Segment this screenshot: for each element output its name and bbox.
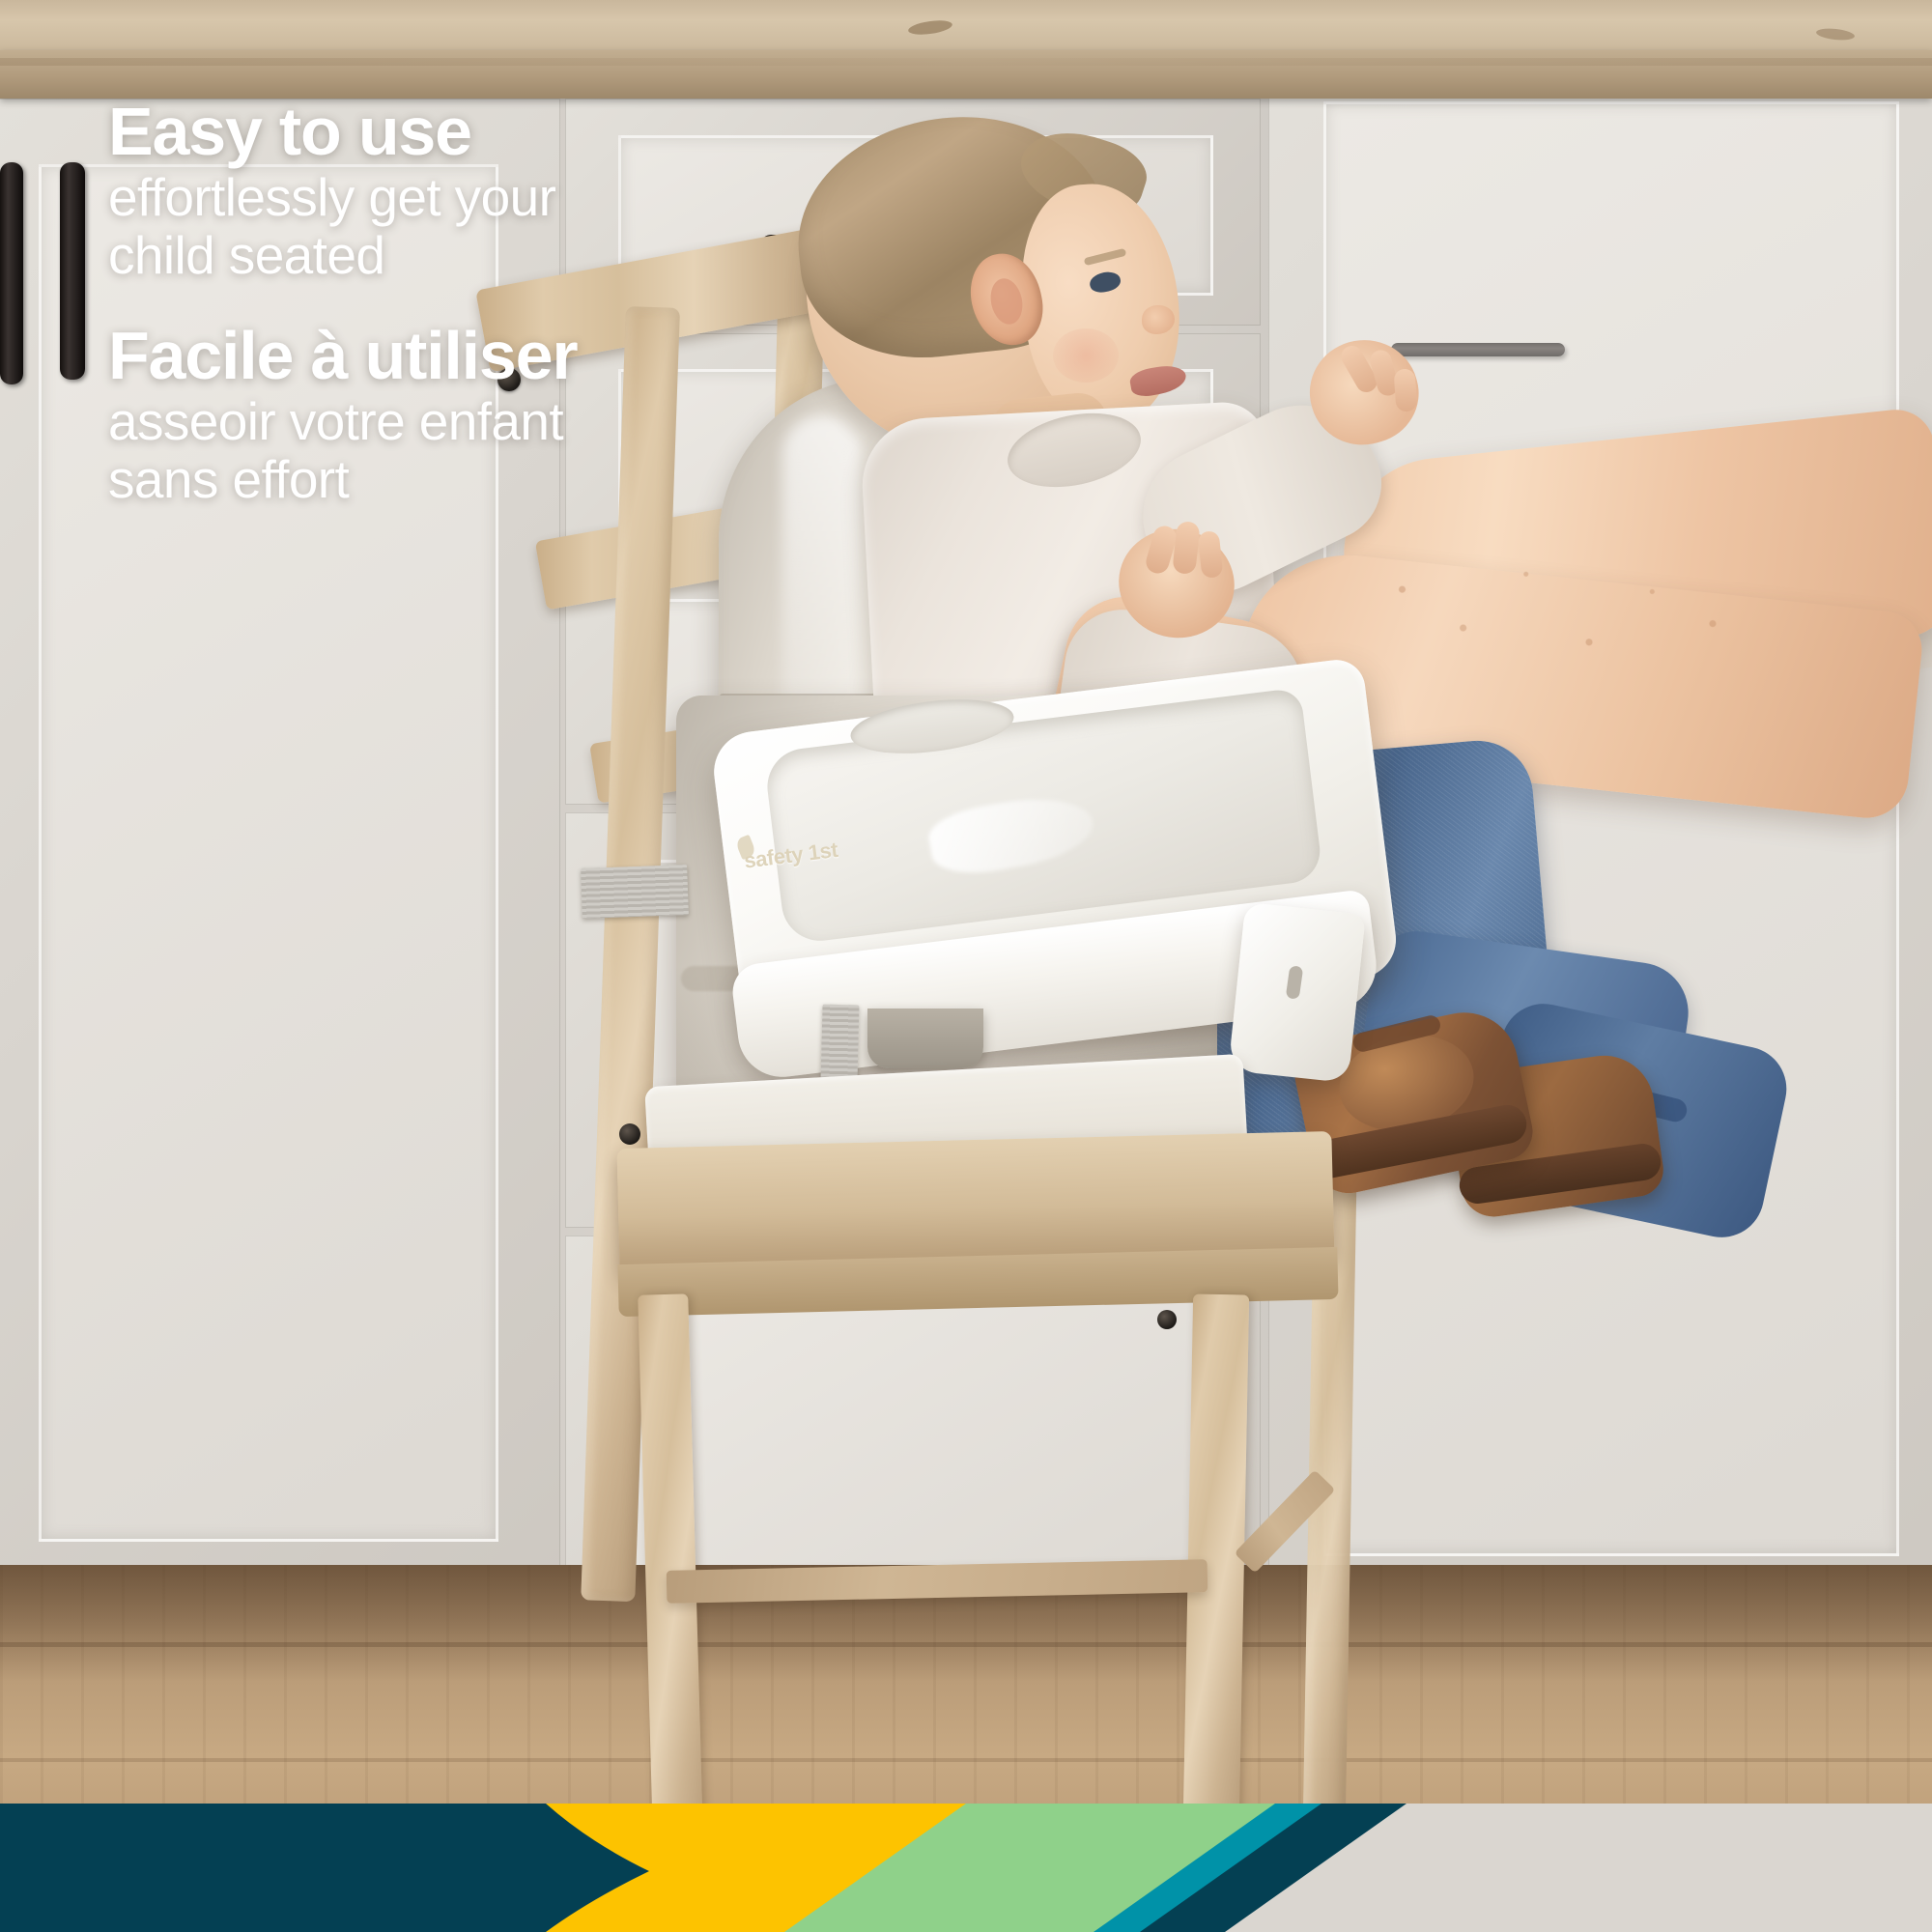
floor-seam — [0, 1758, 1932, 1762]
chevron-bar-graphic — [0, 1804, 1932, 1932]
headline-french: Facile à utiliser — [108, 323, 611, 389]
copy-english: Easy to use effortlessly get your child … — [108, 99, 611, 284]
headline-english: Easy to use — [108, 99, 611, 165]
baby-cheek — [1053, 328, 1119, 383]
adult-arm-freckles — [1367, 526, 1793, 720]
cabinet-handle-left-2 — [60, 162, 85, 380]
brand-chevron-bar — [0, 1804, 1932, 1932]
body-english: effortlessly get your child seated — [108, 169, 611, 284]
marketing-copy-block: Easy to use effortlessly get your child … — [108, 99, 611, 508]
baby-finger — [1393, 368, 1417, 412]
counter-top — [0, 0, 1932, 50]
cabinet-panel-5 — [618, 1280, 1213, 1585]
cabinet-handle-left-1 — [0, 162, 23, 384]
dark-teal-chevron-1-segment — [0, 1804, 649, 1932]
cabinet-handle-right — [1391, 343, 1565, 356]
copy-french: Facile à utiliser asseoir votre enfant s… — [108, 323, 611, 508]
booster-back-strap — [581, 865, 689, 919]
body-french: asseoir votre enfant sans effort — [108, 393, 611, 508]
chair-screw-seat — [619, 1123, 640, 1145]
chair-screw-leg — [1157, 1310, 1177, 1329]
booster-foot-left — [867, 1009, 983, 1068]
product-marketing-image: safety 1st Easy to use effortlessly get … — [0, 0, 1932, 1932]
counter-grain — [0, 58, 1932, 66]
